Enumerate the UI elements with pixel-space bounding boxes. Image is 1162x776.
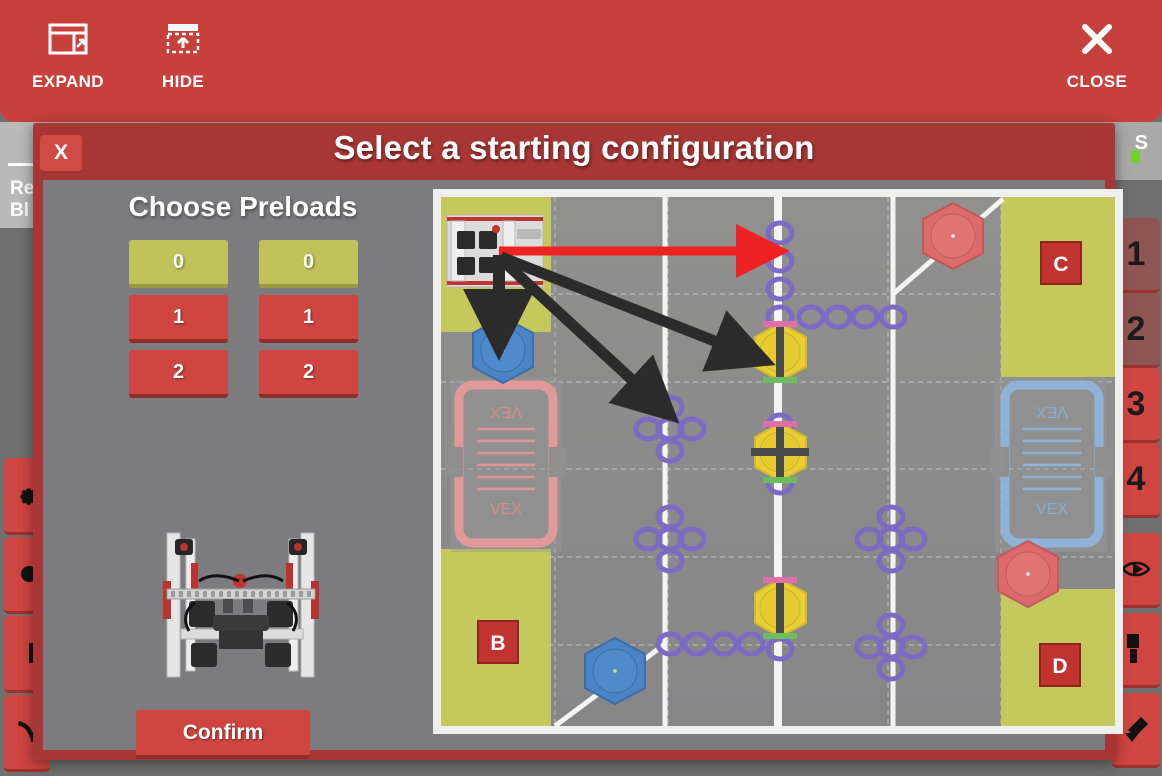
preloads-row-1: 1 1: [129, 295, 409, 343]
zone-marker-b: B: [478, 621, 518, 663]
field-diagram[interactable]: VEX VEX VEX VEX: [433, 189, 1123, 734]
svg-text:VEX: VEX: [490, 501, 522, 518]
svg-text:VEX: VEX: [1036, 501, 1068, 518]
confirm-button-label: Confirm: [183, 721, 264, 745]
expand-button-label: EXPAND: [13, 72, 123, 92]
play-eye-icon: [1121, 558, 1151, 580]
close-x-icon: [1042, 18, 1152, 60]
hide-upload-icon: [128, 18, 238, 60]
hide-button-label: HIDE: [128, 72, 238, 92]
preloads-row-2: 2 2: [129, 350, 409, 398]
right-button-4-label: 4: [1127, 460, 1146, 499]
svg-text:VEX: VEX: [1036, 403, 1068, 420]
zone-marker-c: C: [1041, 242, 1081, 284]
preload-right-option-1[interactable]: 1: [259, 295, 358, 343]
svg-text:VEX: VEX: [490, 403, 522, 420]
preload-right-option-2[interactable]: 2: [259, 350, 358, 398]
preload-left-option-0[interactable]: 0: [129, 240, 228, 288]
right-button-3-label: 3: [1127, 385, 1146, 424]
choose-preloads-heading: Choose Preloads: [43, 191, 443, 223]
confirm-button[interactable]: Confirm: [136, 710, 310, 759]
cursor-tool-icon: [1121, 714, 1151, 744]
preloads-row-0: 0 0: [129, 240, 409, 288]
status-indicator-dot: [1131, 150, 1140, 163]
right-button-2-label: 2: [1127, 310, 1146, 349]
dialog-title: Select a starting configuration: [33, 129, 1115, 167]
hide-button[interactable]: HIDE: [128, 18, 238, 92]
svg-text:B: B: [490, 632, 505, 655]
close-button-label: CLOSE: [1042, 72, 1152, 92]
platform-red: VEX VEX: [445, 377, 567, 552]
expand-button[interactable]: EXPAND: [13, 18, 123, 92]
preload-left-option-1[interactable]: 1: [129, 295, 228, 343]
pin-tool-icon: [1125, 632, 1147, 666]
preload-right-option-0[interactable]: 0: [259, 240, 358, 288]
dialog-body: Choose Preloads 0 0 1 1 2 2: [43, 180, 1105, 750]
expand-window-icon: [13, 18, 123, 60]
svg-text:C: C: [1053, 253, 1068, 276]
preload-left-option-2[interactable]: 2: [129, 350, 228, 398]
robot-top-down-render: [139, 525, 345, 685]
preloads-grid: 0 0 1 1 2 2: [129, 240, 409, 405]
right-button-1-label: 1: [1127, 235, 1146, 274]
platform-blue: VEX VEX: [991, 377, 1113, 552]
close-button[interactable]: CLOSE: [1042, 18, 1152, 92]
zone-marker-d: D: [1040, 644, 1080, 686]
top-toolbar: EXPAND HIDE CLOSE: [0, 0, 1162, 122]
svg-text:D: D: [1052, 655, 1067, 678]
starting-configuration-dialog: X Select a starting configuration Choose…: [33, 123, 1115, 760]
